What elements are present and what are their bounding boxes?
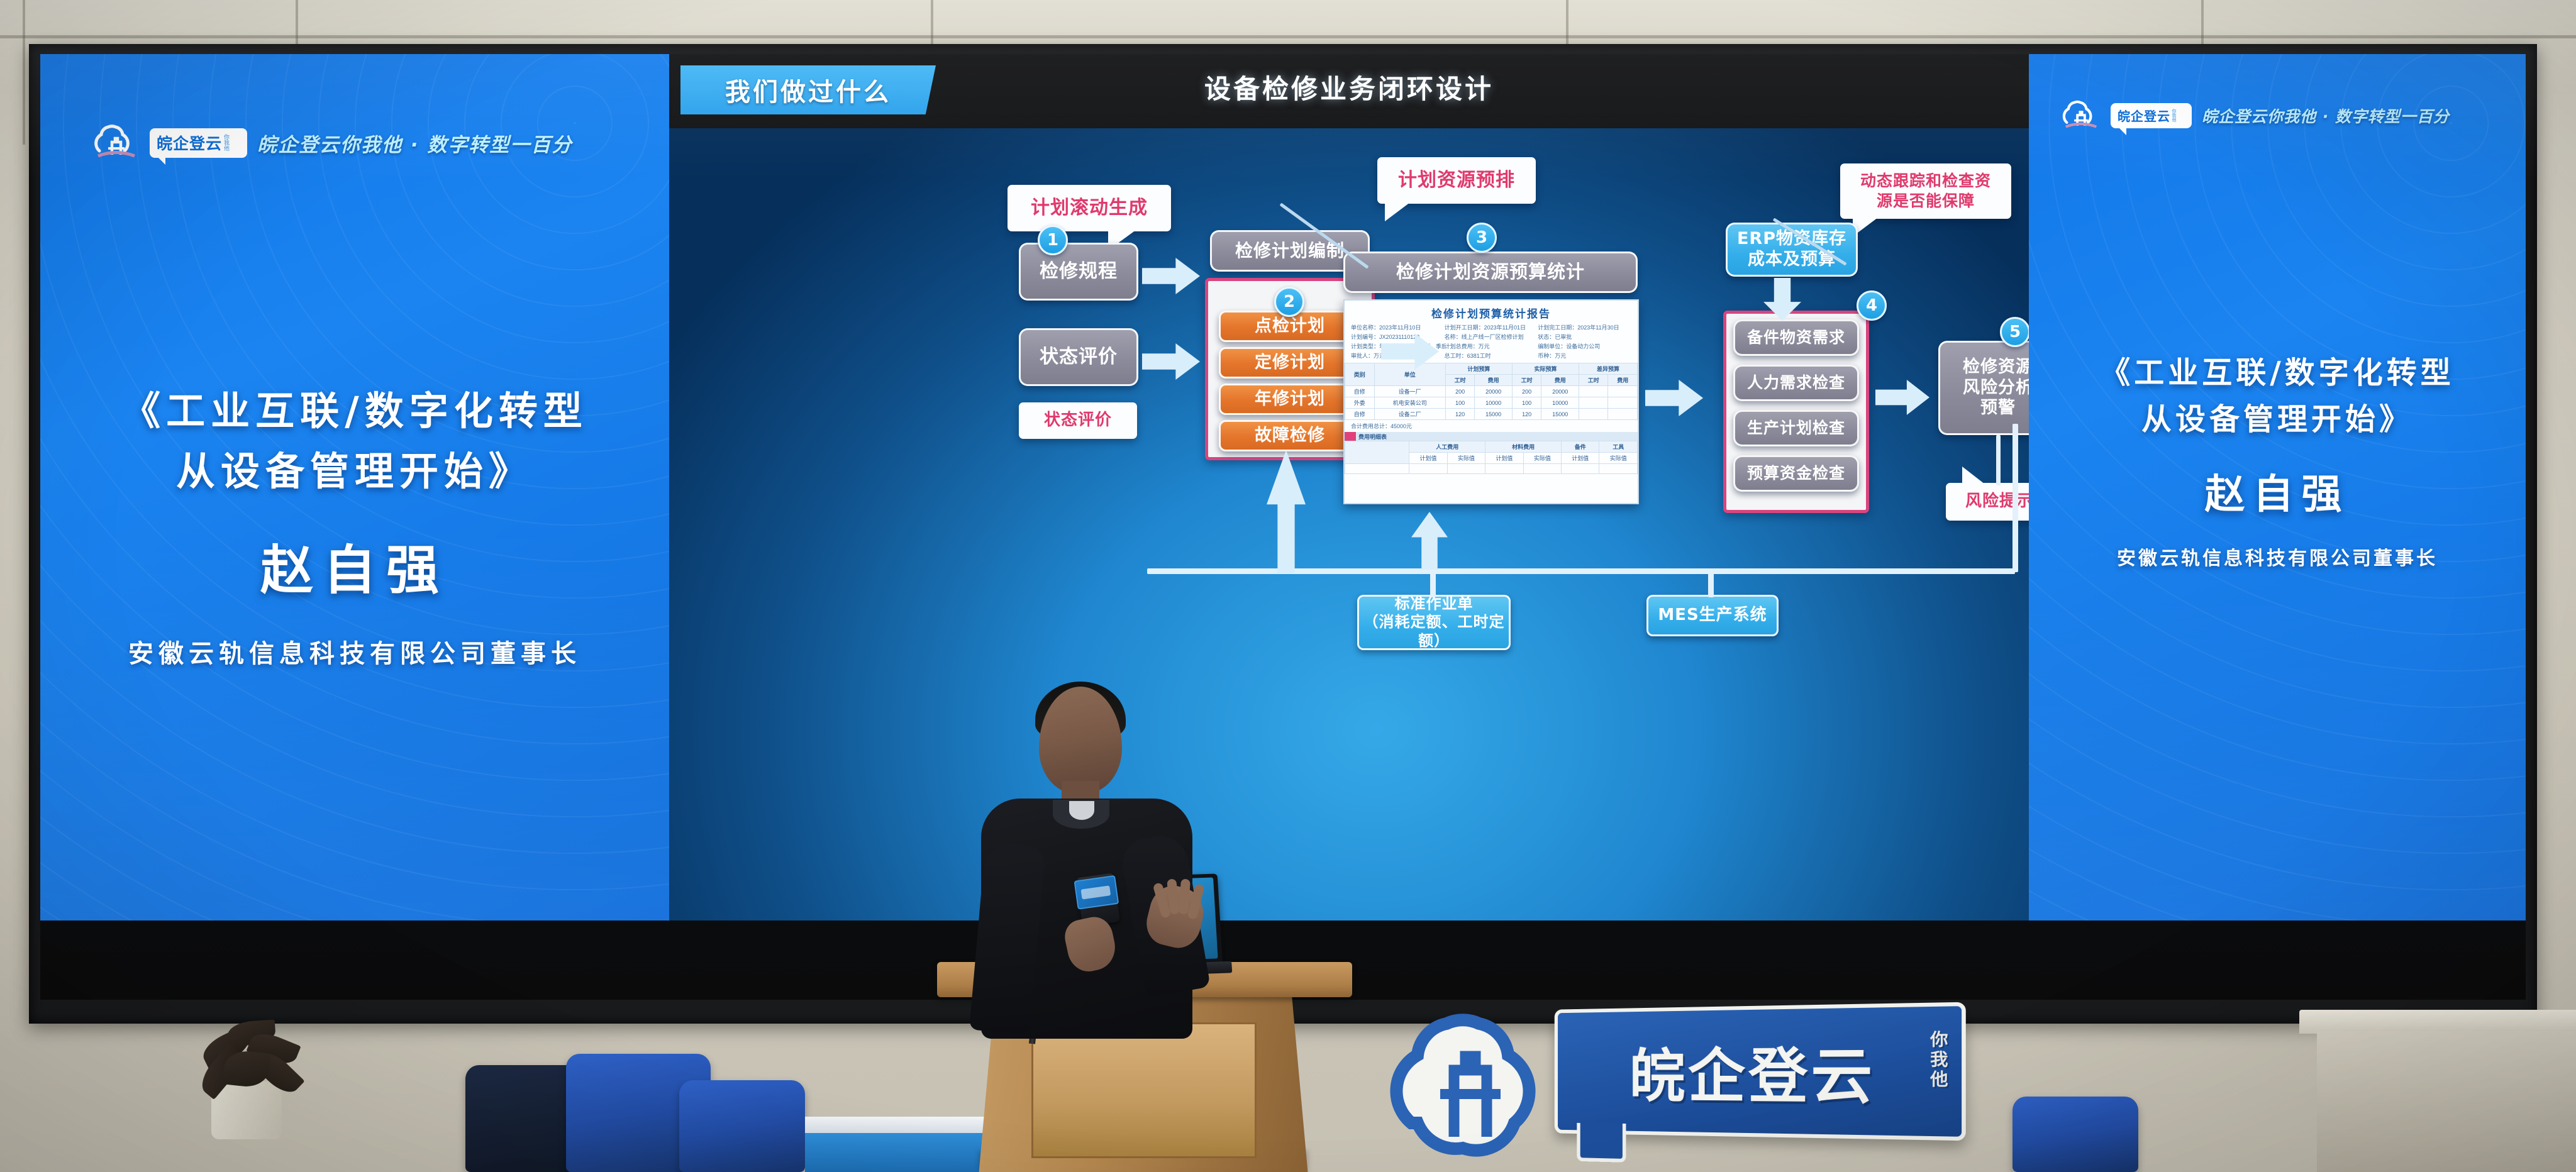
cell: 自修 [1345,409,1375,420]
cloud-house-logo-icon [2062,99,2101,132]
cell: 100 [1512,397,1541,409]
arrow-check-to-risk [1875,380,1929,415]
potted-plant [189,1014,308,1139]
slide-section-tab: 我们做过什么 [680,65,936,114]
cell: 15000 [1541,409,1579,420]
cell: 100 [1445,397,1475,409]
node-condition-assessment: 状态评价 [1019,328,1138,386]
node-spare-parts-demand: 备件物资需求 [1733,319,1859,356]
tile-seam-v1 [23,0,25,145]
spreadsheet-title: 检修计划预算统计报告 [1345,301,1638,323]
node-standard-work-order: 标准作业单 （消耗定额、工时定额） [1357,595,1511,650]
th-unit: 单位 [1374,363,1445,386]
right-foreground-desk [2299,1010,2576,1172]
left-title-panel: 皖企登云 你我他 皖企登云你我他 · 数字转型一百分 《工业互联/数字化转型 从… [40,54,669,920]
cell [1608,397,1638,409]
th-cost: 费用 [1475,375,1513,386]
brand-tagline: 皖企登云你我他 · 数字转型一百分 [257,129,572,157]
th-hours: 工时 [1512,375,1541,386]
meta-cell: 计划完工日期：2023年11月30日 [1538,323,1631,331]
callout-tracking-leader-line [1773,218,1847,265]
th-group-plan: 计划预算 [1445,363,1512,375]
node-risk-analysis-alert: 检修资源 风险分析 预警 [1938,341,2029,435]
cell: 10000 [1475,397,1513,409]
node-fault-repair: 故障检修 [1219,420,1361,451]
presentation-slide: 我们做过什么 设备检修业务闭环设计 计划滚动生成 计划资源预排 [669,54,2029,920]
budget-report-spreadsheet: 检修计划预算统计报告 单位名称：2023年11月10日 计划开工日期：2023年… [1343,299,1639,504]
left-panel-content: 《工业互联/数字化转型 从设备管理开始》 赵自强 安徽云轨信息科技有限公司董事长 [40,381,669,670]
riser-sop [1430,568,1436,597]
right-panel-content: 《工业互联/数字化转型 从设备管理开始》 赵自强 安徽云轨信息科技有限公司董事长 [2029,350,2526,570]
callout-rolling-plan: 计划滚动生成 [1008,185,1171,231]
cell [1579,397,1608,409]
floor-sign-text: 皖企登云 [1629,1027,1876,1116]
brand-badge-text: 皖企登云 [157,131,222,154]
riser-mes [1708,568,1714,597]
node-manpower-check: 人力需求检查 [1733,365,1859,401]
table-header-row: 人工费用 材料费用 备件 工具 [1345,441,1638,453]
meta-cell: 单位名称：2023年11月10日 [1351,323,1445,331]
riser-risk-to-node [1996,435,2001,485]
right-title-panel: 皖企登云 你我他 皖企登云你我他 · 数字转型一百分 《工业互联/数字化转型 从… [2029,54,2526,920]
arrow-sop-up [1411,512,1448,570]
floor-sign-plaque: 皖企登云 你我他 [1555,1002,1966,1141]
cell: 设备一厂 [1374,386,1445,397]
th-hours: 工时 [1445,375,1475,386]
audience-chair [679,1080,805,1172]
cell: 实际值 [1523,453,1561,464]
left-talk-title-line2: 从设备管理开始》 [40,441,669,502]
brand-badge: 皖企登云 你我他 [2111,103,2192,128]
floor-sign-sub: 你我他 [1925,1030,1951,1090]
table-group-header-row: 类别 单位 计划预算 实际预算 差异预算 [1345,363,1638,375]
slide-title: 设备检修业务闭环设计 [669,68,2029,106]
step-badge-1: 1 [1038,225,1068,255]
cloud-house-logo-icon [1387,1000,1545,1164]
bottom-connector-rail [1147,568,2015,574]
cell [1579,409,1608,420]
led-screen-surface: 皖企登云 你我他 皖企登云你我他 · 数字转型一百分 《工业互联/数字化转型 从… [40,54,2526,1000]
conference-room-scene: 皖企登云 你我他 皖企登云你我他 · 数字转型一百分 《工业互联/数字化转型 从… [0,0,2576,1172]
callout-preplan-leader-line [1280,202,1369,268]
right-speaker-org: 安徽云轨信息科技有限公司董事长 [2029,543,2526,570]
riser-right-return [2012,424,2018,572]
th-group-diff: 差异预算 [1579,363,1637,375]
cell: 自修 [1345,386,1375,397]
cell: 计划值 [1409,453,1447,464]
th-spare: 备件 [1562,441,1599,453]
brand-badge: 皖企登云 你我他 [150,128,247,158]
cell: 120 [1445,409,1475,420]
cell: 15000 [1475,409,1513,420]
table-header-row: 工时 费用 工时 费用 工时 费用 [1345,375,1638,386]
arrow-feedback-to-plan [1267,450,1306,573]
callout-dynamic-tracking: 动态跟踪和检查资 源是否能保障 [1840,163,2011,219]
slide-header-bar [669,54,2029,128]
meta-cell: 状态：已审批 [1538,333,1631,341]
callout-resource-preplan: 计划资源预排 [1377,157,1536,204]
cell: 设备二厂 [1374,409,1445,420]
cost-detail-table: 人工费用 材料费用 备件 工具 计划值 实际值 计划值 实际值 计划值 [1345,441,1638,474]
th-tool: 工具 [1599,441,1638,453]
cell: 实际值 [1447,453,1485,464]
node-production-plan-check: 生产计划检查 [1733,410,1859,446]
presenter-shirt [1069,801,1094,820]
presenter-person [974,687,1200,1039]
cell: 外委 [1345,397,1375,409]
meta-cell: 计划开工日期：2023年11月01日 [1445,323,1538,331]
cell: 计划值 [1485,453,1523,464]
node-budget-fund-check: 预算资金检查 [1733,455,1859,492]
th-material: 材料费用 [1485,441,1562,453]
th-labor: 人工费用 [1409,441,1485,453]
th-category: 类别 [1345,363,1375,386]
meta-cell: 名称：线上产线一厂区检修计划 [1445,333,1538,341]
th-group-actual: 实际预算 [1512,363,1579,375]
floor-brand-sign: 皖企登云 你我他 [1384,991,2050,1172]
cell [1608,386,1638,397]
step-badge-5: 5 [2000,317,2029,347]
left-speaker-name: 赵自强 [40,528,669,604]
cell: 机电安装公司 [1374,397,1445,409]
brand-tagline: 皖企登云你我他 · 数字转型一百分 [2202,104,2450,127]
budget-table: 类别 单位 计划预算 实际预算 差异预算 工时 费用 工时 费用 [1345,363,1638,420]
spreadsheet-footer-note: 合计费用总计：45000元 [1345,420,1638,432]
node-mes-system: MES生产系统 [1646,595,1779,636]
th-cost: 费用 [1608,375,1638,386]
table-row [1345,464,1638,474]
cell [1579,386,1608,397]
meta-cell: 计划编号：JX20231110123 [1351,333,1445,341]
cell: 200 [1512,386,1541,397]
node-budget-statistics: 检修计划资源预算统计 [1343,252,1638,293]
left-talk-title-line1: 《工业互联/数字化转型 [40,381,669,441]
tile-seam-h1 [0,35,2576,38]
table-row: 外委 机电安装公司 100 10000 100 10000 [1345,397,1638,409]
table-subheader-row: 计划值 实际值 计划值 实际值 计划值 实际值 [1345,453,1638,464]
arrow-assessment-to-plan [1142,343,1200,380]
cell: 计划值 [1562,453,1599,464]
cell: 实际值 [1599,453,1638,464]
meta-cell: 币种：万元 [1538,351,1631,360]
flowchart: 计划滚动生成 计划资源预排 动态跟踪和检查资 源是否能保障 [669,128,2029,920]
slide-section-tab-label: 我们做过什么 [725,72,891,108]
right-talk-title-line1: 《工业互联/数字化转型 [2029,350,2526,396]
lectern-front-panel [1031,1022,1257,1158]
led-video-wall: 皖企登云 你我他 皖企登云你我他 · 数字转型一百分 《工业互联/数字化转型 从… [29,44,2537,1024]
table-row: 自修 设备二厂 120 15000 120 15000 [1345,409,1638,420]
node-scheduled-repair-plan: 定修计划 [1219,347,1361,379]
arrow-erp-down [1763,278,1801,321]
meta-cell: 编制单位：设备动力公司 [1538,342,1631,350]
step-badge-2: 2 [1274,287,1304,317]
th-hours: 工时 [1579,375,1608,386]
brand-badge-text: 皖企登云 [2118,106,2170,124]
cell [1608,409,1638,420]
left-speaker-org: 安徽云轨信息科技有限公司董事长 [40,633,669,670]
right-talk-title-line2: 从设备管理开始》 [2029,396,2526,443]
brand-badge-sub: 你我他 [223,134,229,151]
th-cost: 费用 [1541,375,1579,386]
step-badge-3: 3 [1467,223,1497,253]
callout-condition-assessment: 状态评价 [1019,402,1137,439]
spreadsheet-band-label: 费用明细表 [1345,432,1638,441]
right-brand-lockup: 皖企登云 你我他 皖企登云你我他 · 数字转型一百分 [2062,99,2450,132]
arrow-plan-to-budget [1381,333,1439,370]
presenter-fingers [1157,883,1201,919]
group-resource-checks [1723,311,1869,513]
cell: 120 [1512,409,1541,420]
meta-cell: 计划总费用：万元 [1445,342,1538,350]
left-brand-lockup: 皖企登云 你我他 皖企登云你我他 · 数字转型一百分 [93,123,572,162]
arrow-budget-to-check [1645,380,1703,416]
cell: 10000 [1541,397,1579,409]
cell: 200 [1445,386,1475,397]
cell: 20000 [1541,386,1579,397]
step-badge-4: 4 [1857,290,1887,321]
right-speaker-name: 赵自强 [2029,462,2526,520]
brand-badge-sub: 你我他 [2172,109,2176,122]
microphone-flag-logo [1074,875,1119,910]
cell: 20000 [1475,386,1513,397]
arrow-spec-to-plan [1142,258,1200,294]
node-annual-repair-plan: 年修计划 [1219,384,1361,415]
table-row: 自修 设备一厂 200 20000 200 20000 [1345,386,1638,397]
meta-cell: 总工时：6381工时 [1445,351,1538,360]
node-overhaul-spec: 检修规程 [1019,243,1138,301]
cloud-house-logo-icon [93,123,140,162]
